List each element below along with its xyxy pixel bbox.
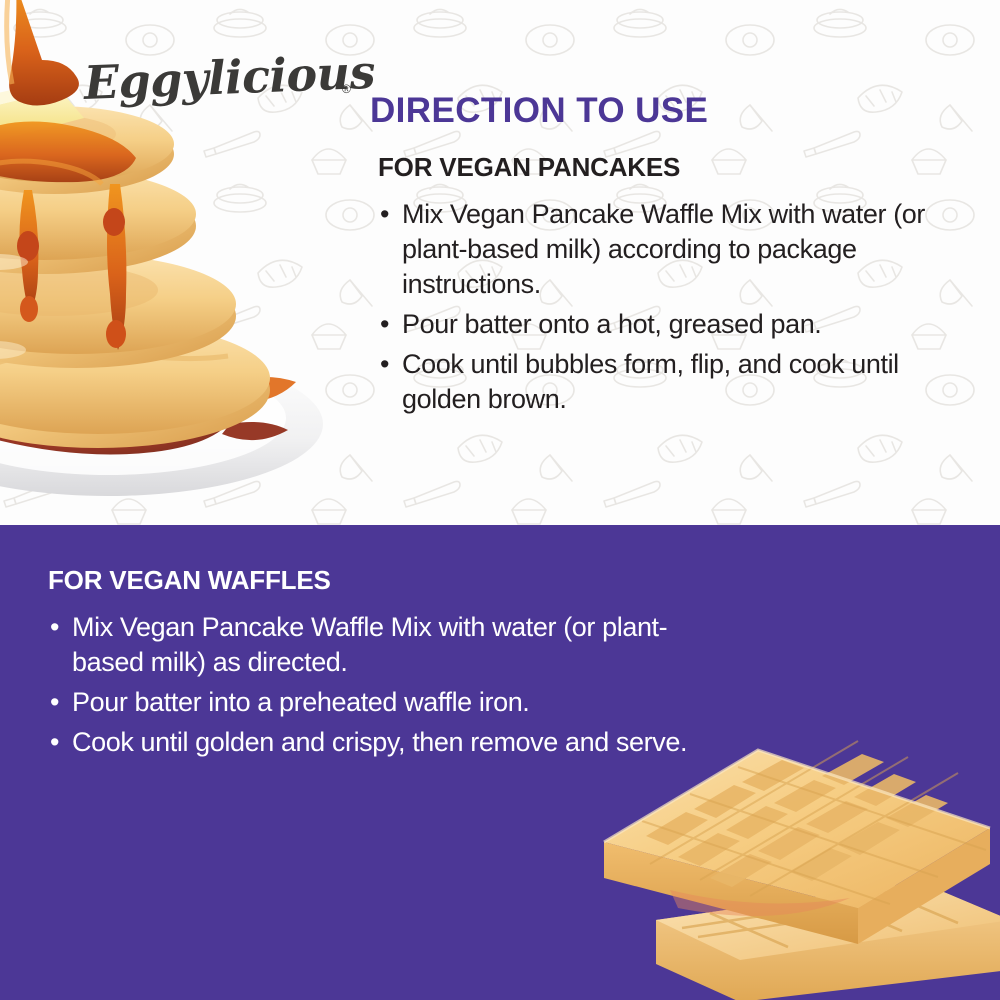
list-item: • Mix Vegan Pancake Waffle Mix with wate… — [378, 197, 978, 302]
page-title: DIRECTION TO USE — [370, 91, 708, 131]
step-text: Cook until golden and crispy, then remov… — [72, 727, 687, 757]
step-text: Mix Vegan Pancake Waffle Mix with water … — [402, 197, 978, 302]
step-text: Pour batter into a preheated waffle iron… — [72, 687, 529, 717]
registered-trademark-icon: ® — [342, 82, 351, 96]
list-item: • Cook until bubbles form, flip, and coo… — [378, 347, 978, 417]
bullet-icon: • — [50, 685, 59, 720]
waffles-step-list: • Mix Vegan Pancake Waffle Mix with wate… — [48, 610, 728, 760]
waffles-heading: FOR VEGAN WAFFLES — [48, 565, 728, 596]
pancakes-section: Eggylicious ® DIRECTION TO USE FOR VEGAN… — [0, 0, 1000, 525]
waffle-stack-image — [590, 724, 1000, 1000]
list-item: • Cook until golden and crispy, then rem… — [48, 725, 728, 760]
step-text: Cook until bubbles form, flip, and cook … — [402, 347, 978, 417]
brand-logo-text: Eggylicious — [83, 49, 376, 106]
bullet-icon: • — [50, 610, 59, 645]
pancakes-step-list: • Mix Vegan Pancake Waffle Mix with wate… — [378, 197, 978, 418]
waffles-instructions: FOR VEGAN WAFFLES • Mix Vegan Pancake Wa… — [48, 565, 728, 765]
list-item: • Pour batter into a preheated waffle ir… — [48, 685, 728, 720]
step-text: Mix Vegan Pancake Waffle Mix with water … — [72, 612, 667, 677]
bullet-icon: • — [50, 725, 59, 760]
pancakes-instructions: FOR VEGAN PANCAKES • Mix Vegan Pancake W… — [378, 152, 978, 423]
waffle-bottom — [656, 882, 1000, 1000]
waffle-top — [604, 741, 990, 944]
list-item: • Pour batter onto a hot, greased pan. — [378, 307, 978, 342]
product-direction-panel: Eggylicious ® DIRECTION TO USE FOR VEGAN… — [0, 0, 1000, 1000]
bullet-icon: • — [380, 347, 389, 382]
bullet-icon: • — [380, 307, 389, 342]
pancakes-heading: FOR VEGAN PANCAKES — [378, 152, 978, 183]
bullet-icon: • — [380, 197, 389, 232]
brand-logo: Eggylicious ® — [84, 52, 364, 114]
step-text: Pour batter onto a hot, greased pan. — [402, 307, 978, 342]
waffles-section: FOR VEGAN WAFFLES • Mix Vegan Pancake Wa… — [0, 525, 1000, 1000]
list-item: • Mix Vegan Pancake Waffle Mix with wate… — [48, 610, 728, 680]
